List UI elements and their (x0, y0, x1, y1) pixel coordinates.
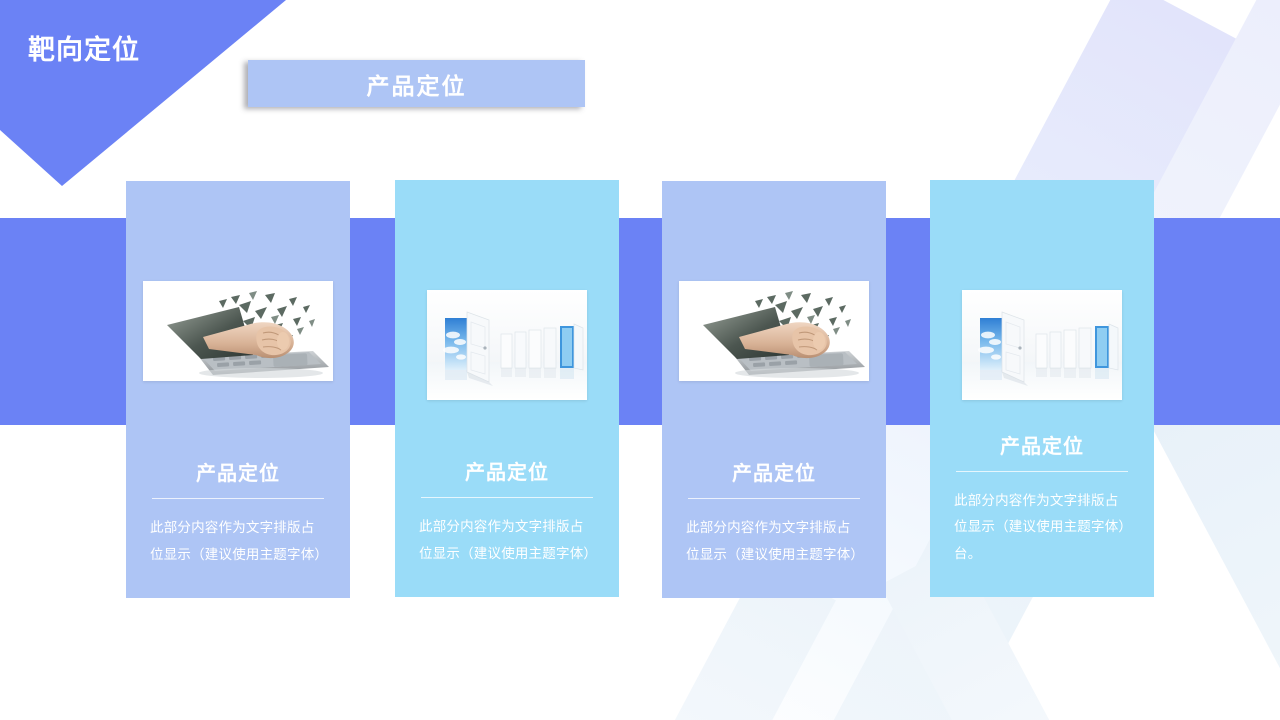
card-3[interactable]: 产品定位 此部分内容作为文字排版占位显示（建议使用主题字体） (662, 181, 886, 598)
card-4-divider (956, 471, 1128, 472)
slide-canvas: 靶向定位 产品定位 (0, 0, 1280, 720)
card-2-title: 产品定位 (465, 463, 549, 483)
card-1-image (143, 281, 333, 381)
card-1-title: 产品定位 (196, 464, 280, 484)
open-doors-corridor-icon (427, 290, 587, 400)
card-2-image (427, 290, 587, 400)
fist-through-laptop-icon (679, 281, 869, 381)
card-3-title: 产品定位 (732, 464, 816, 484)
card-2-divider (421, 497, 593, 498)
card-1-divider (152, 498, 324, 499)
card-3-image (679, 281, 869, 381)
card-4-image (962, 290, 1122, 400)
card-4-title: 产品定位 (1000, 437, 1084, 457)
card-1-body: 此部分内容作为文字排版占位显示（建议使用主题字体） (150, 515, 326, 568)
card-2-body: 此部分内容作为文字排版占位显示（建议使用主题字体） (419, 514, 595, 567)
card-4-body: 此部分内容作为文字排版占位显示（建议使用主题字体）台。 (954, 488, 1130, 567)
card-4[interactable]: 产品定位 此部分内容作为文字排版占位显示（建议使用主题字体）台。 (930, 180, 1154, 597)
open-doors-corridor-icon (962, 290, 1122, 400)
card-2[interactable]: 产品定位 此部分内容作为文字排版占位显示（建议使用主题字体） (395, 180, 619, 597)
card-1[interactable]: 产品定位 此部分内容作为文字排版占位显示（建议使用主题字体） (126, 181, 350, 598)
page-title: 靶向定位 (28, 28, 140, 67)
fist-through-laptop-icon (143, 281, 333, 381)
card-3-body: 此部分内容作为文字排版占位显示（建议使用主题字体） (686, 515, 862, 568)
card-3-divider (688, 498, 860, 499)
card-row: 产品定位 此部分内容作为文字排版占位显示（建议使用主题字体） (0, 0, 1280, 720)
